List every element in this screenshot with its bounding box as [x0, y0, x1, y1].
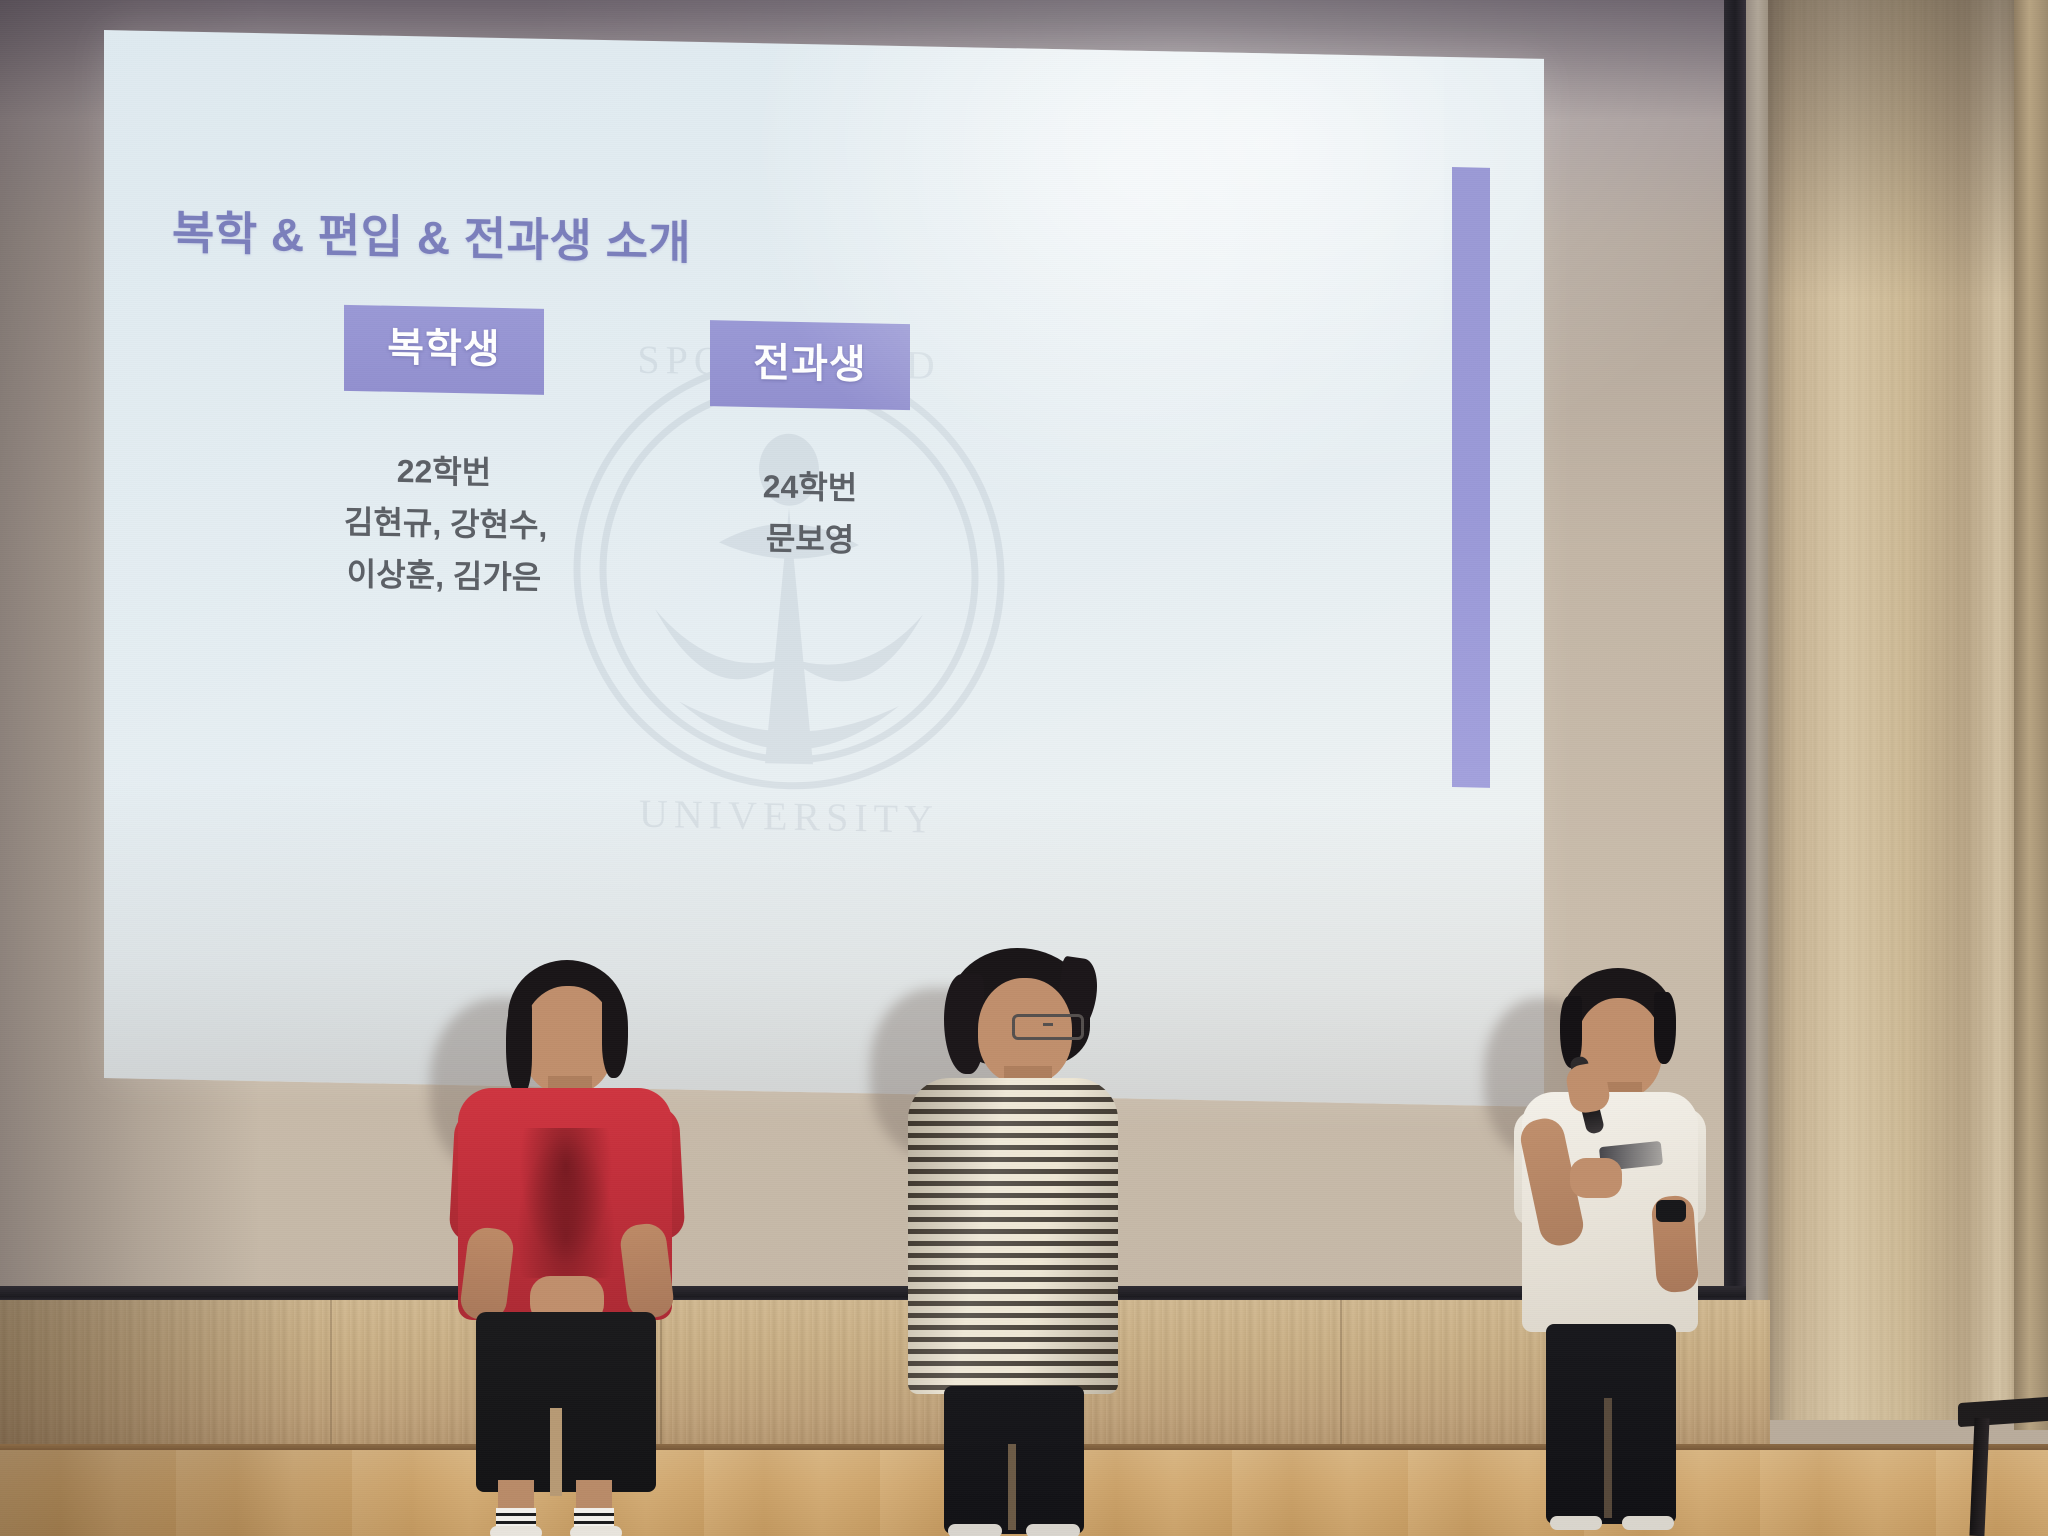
wooden-column: [1768, 0, 2020, 1420]
hand-right: [1570, 1158, 1622, 1198]
column-line: 24학번: [710, 460, 910, 516]
person-center: [900, 948, 1126, 1536]
wainscot-left-shading: [0, 1300, 330, 1452]
sneaker-left: [1550, 1516, 1602, 1530]
projection-screen: SPORTS MED UNIVERSITY 복학 & 편입 & 전과생 소개 복…: [104, 30, 1544, 1107]
striped-shirt-shading: [908, 1078, 1118, 1394]
photo-scene: SPORTS MED UNIVERSITY 복학 & 편입 & 전과생 소개 복…: [0, 0, 2048, 1536]
column-line: 김현규, 강현수,: [344, 497, 544, 553]
slide-column-jeongwasaeng: 전과생 24학번 문보영: [710, 320, 910, 568]
column-top-shading: [1768, 0, 2020, 300]
trouser-gap: [1008, 1444, 1016, 1530]
column-line: 이상훈, 김가은: [344, 548, 544, 604]
column-header-transfer-students: 전과생: [710, 320, 910, 410]
wainscot-seam: [1340, 1300, 1342, 1452]
chair-leg: [1969, 1418, 1989, 1536]
shorts-gap: [550, 1408, 562, 1496]
floor-left-shading: [0, 1450, 420, 1536]
hair-side-right: [602, 994, 628, 1078]
column-right-edge: [2014, 0, 2048, 1430]
column-body-returning-students: 22학번 김현규, 강현수, 이상훈, 김가은: [344, 445, 544, 604]
glasses: [1012, 1014, 1084, 1040]
screen-frame-right-edge: [1724, 0, 1746, 1300]
chair-seat: [1958, 1397, 2048, 1427]
sneaker-right: [1026, 1524, 1080, 1536]
sneaker-right: [1622, 1516, 1674, 1530]
column-header-returning-students: 복학생: [344, 305, 544, 395]
screen-bottom-shading: [104, 778, 1544, 1107]
column-line: 22학번: [344, 445, 544, 501]
person-left: [452, 960, 682, 1536]
wristwatch: [1656, 1200, 1686, 1222]
sneaker-left: [948, 1524, 1002, 1536]
sneaker-left: [490, 1526, 542, 1536]
trouser-gap: [1604, 1398, 1612, 1518]
shirt-graphic-print: [514, 1128, 618, 1278]
hair-side-left: [506, 1000, 532, 1096]
column-body-transfer-students: 24학번 문보영: [710, 460, 910, 568]
black-shorts: [476, 1312, 656, 1492]
svg-text:UNIVERSITY: UNIVERSITY: [639, 791, 939, 842]
slide-accent-bar: [1452, 167, 1490, 788]
projection-screen-surface: SPORTS MED UNIVERSITY 복학 & 편입 & 전과생 소개 복…: [104, 30, 1544, 1107]
column-line: 문보영: [710, 512, 910, 568]
sneaker-right: [570, 1526, 622, 1536]
hair-side-right: [1654, 992, 1676, 1064]
slide-title: 복학 & 편입 & 전과생 소개: [172, 196, 691, 272]
slide-column-bokhaksaeng: 복학생 22학번 김현규, 강현수, 이상훈, 김가은: [344, 305, 544, 604]
chair: [1958, 1400, 2048, 1536]
wainscot-seam: [330, 1300, 332, 1452]
person-right: [1508, 968, 1708, 1536]
